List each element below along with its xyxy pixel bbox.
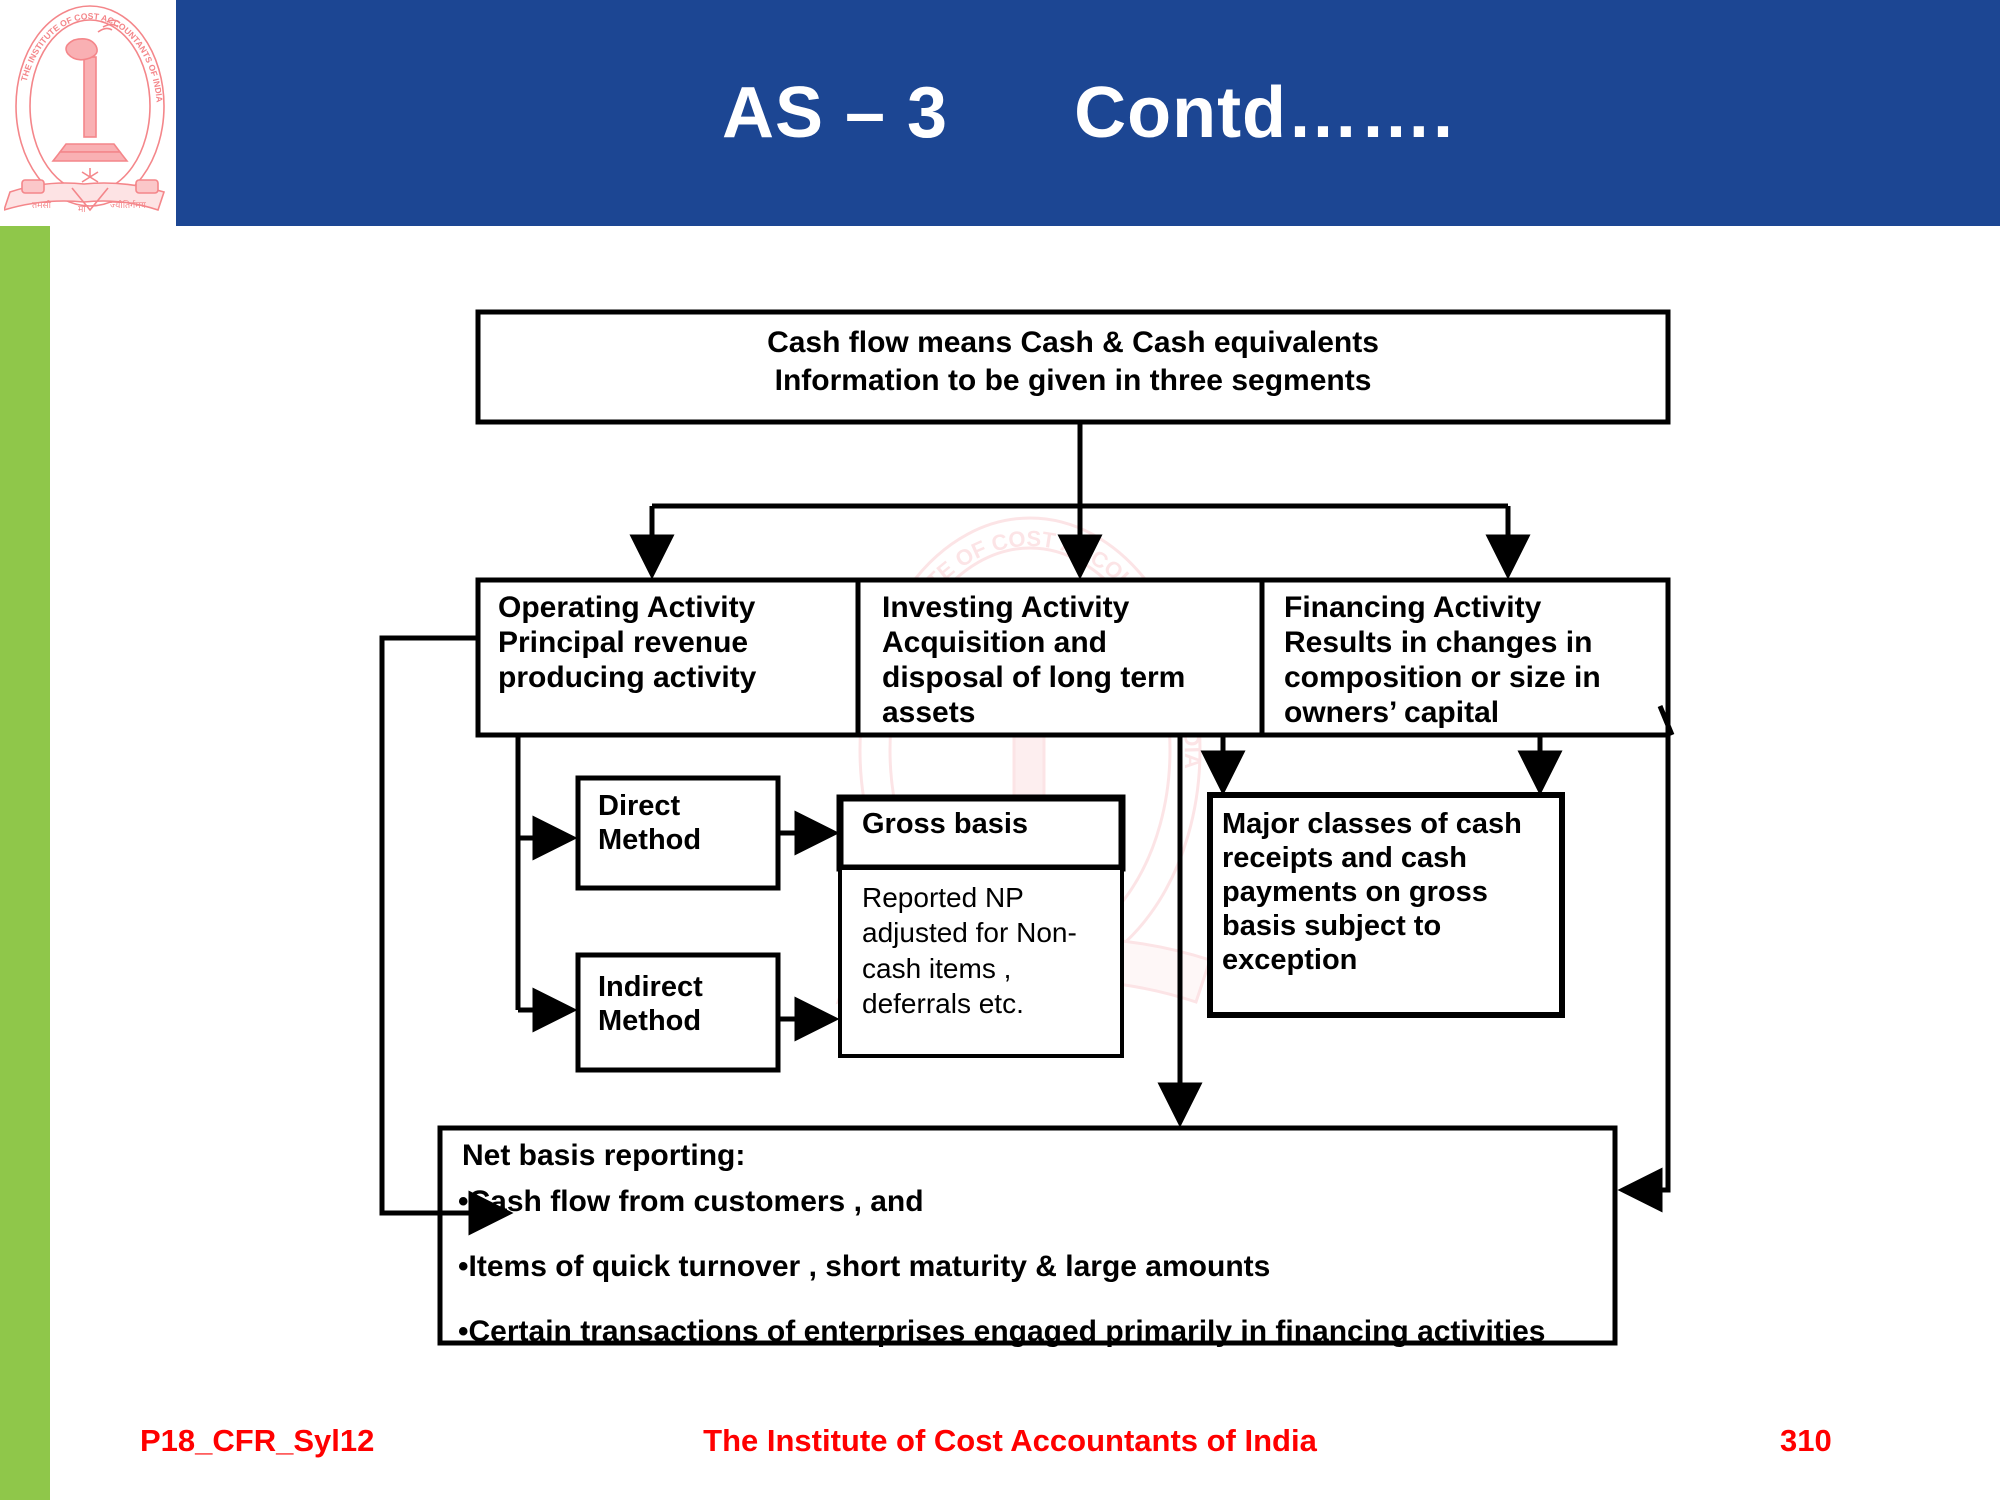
major-classes-text: Major classes of cash receipts and cash …: [1222, 808, 1552, 978]
net-basis-bullet: •Certain transactions of enterprises eng…: [458, 1315, 1545, 1349]
connector-right-feedback-loop: [1625, 700, 1668, 1190]
footer-institute-name: The Institute of Cost Accountants of Ind…: [560, 1418, 1460, 1464]
direct-method-text: Direct Method: [598, 790, 778, 858]
net-basis-title: Net basis reporting:: [462, 1138, 1562, 1173]
footer-subject-code: P18_CFR_Syl12: [140, 1418, 374, 1464]
investing-activity-text: Investing Activity Acquisition and dispo…: [882, 590, 1242, 730]
footer-page-number: 310: [1780, 1418, 1900, 1464]
slide-canvas: AS – 3 Contd…….: [0, 0, 2000, 1500]
cash-flow-definition-text: Cash flow means Cash & Cash equivalents …: [478, 324, 1668, 401]
net-basis-bullet: •Items of quick turnover , short maturit…: [458, 1250, 1270, 1284]
net-basis-bullet: •Cash flow from customers , and: [458, 1185, 924, 1219]
reported-np-text: Reported NP adjusted for Non- cash items…: [862, 880, 1112, 1021]
indirect-method-text: Indirect Method: [598, 971, 798, 1039]
gross-basis-heading: Gross basis: [862, 808, 1112, 842]
operating-activity-text: Operating Activity Principal revenue pro…: [498, 590, 838, 695]
financing-activity-text: Financing Activity Results in changes in…: [1284, 590, 1644, 730]
